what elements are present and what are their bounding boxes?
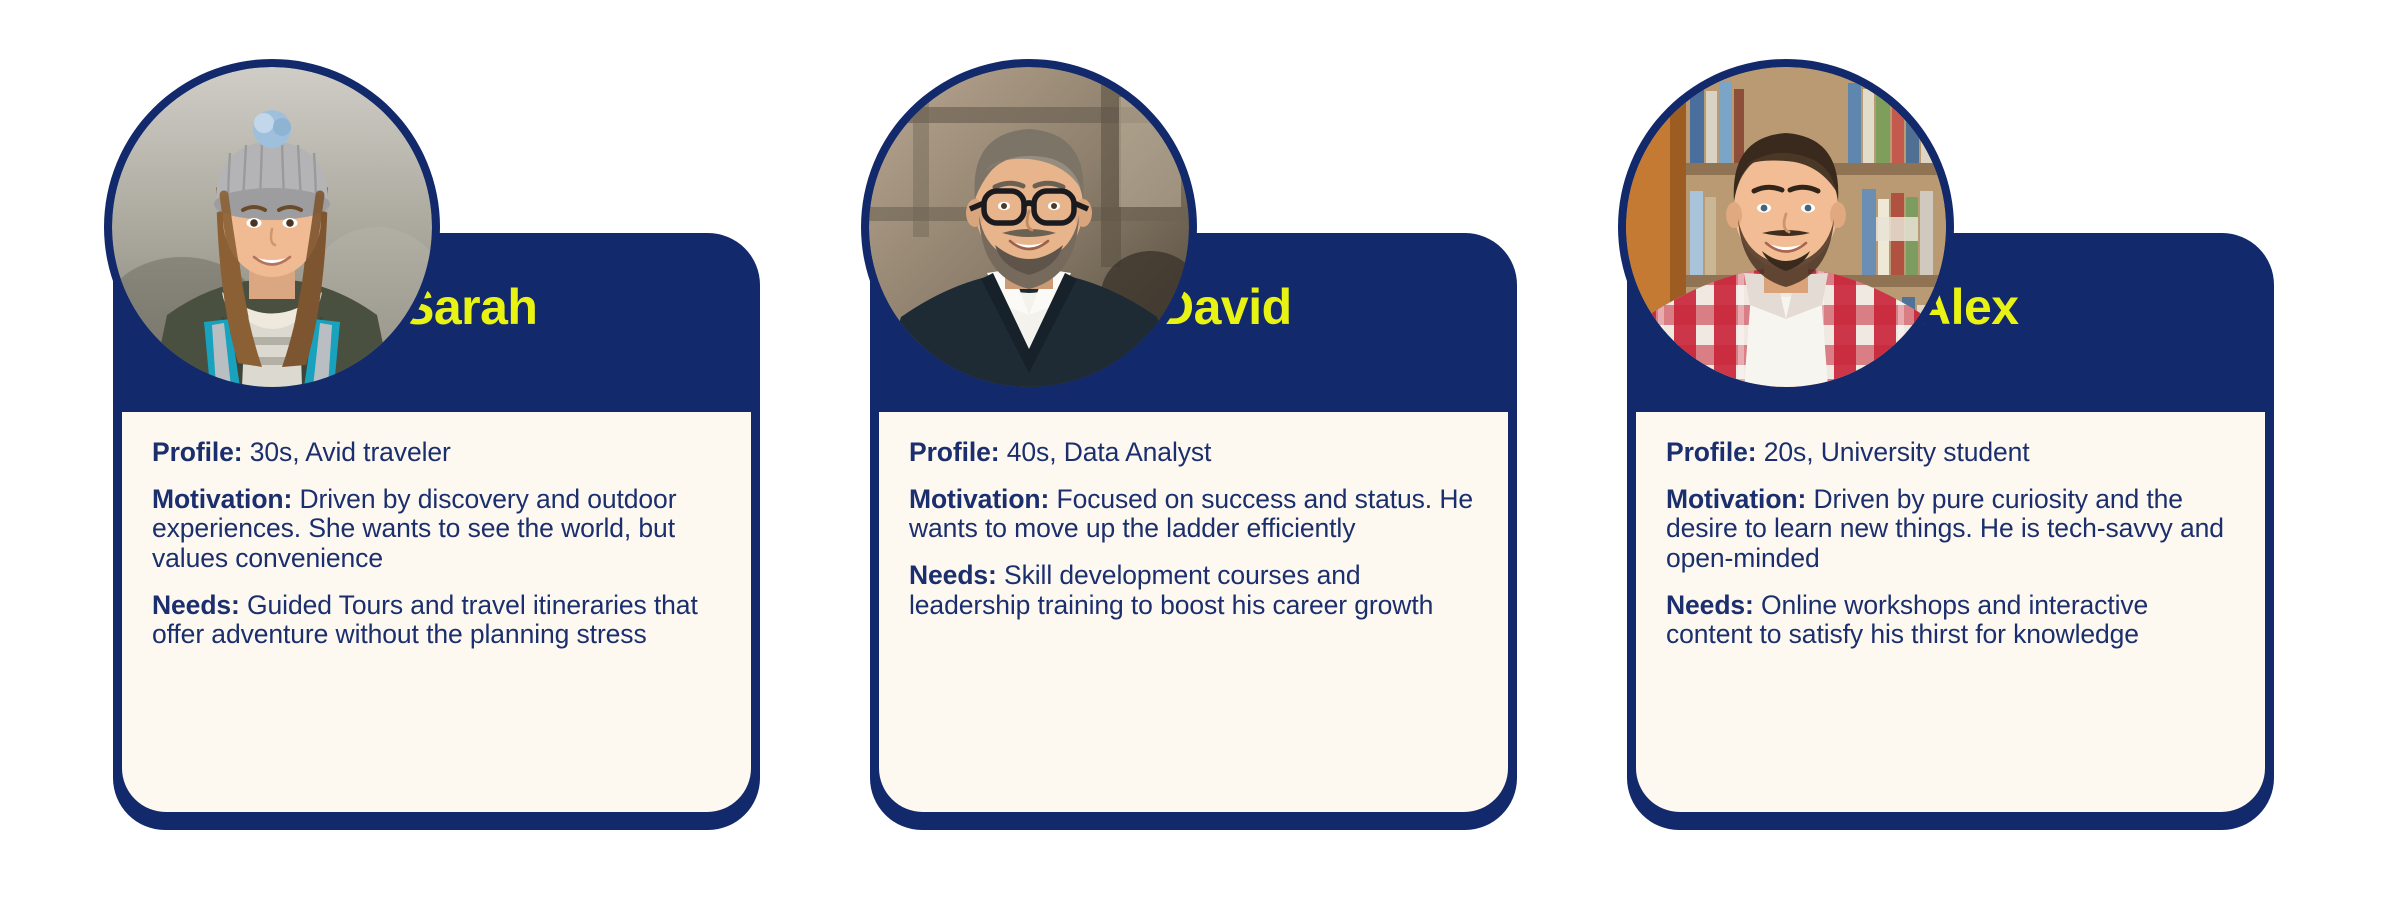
motivation-label: Motivation: [909,484,1049,514]
avatar [1626,67,1946,387]
motivation-label: Motivation: [152,484,292,514]
persona-details: Profile: 40s, Data Analyst Motivation: F… [879,412,1508,812]
persona-cards-board: Sarah [0,0,2390,915]
persona-name: Sarah [401,278,537,336]
profile-line: Profile: 20s, University student [1666,438,2235,468]
motivation-line: Motivation: Driven by discovery and outd… [152,485,721,574]
persona-card-alex[interactable]: Alex [1627,233,2274,830]
persona-details: Profile: 20s, University student Motivat… [1636,412,2265,812]
avatar [869,67,1189,387]
profile-label: Profile: [1666,437,1757,467]
profile-label: Profile: [909,437,1000,467]
needs-line: Needs: Skill development courses and lea… [909,561,1478,620]
motivation-line: Motivation: Driven by pure curiosity and… [1666,485,2235,574]
profile-line: Profile: 40s, Data Analyst [909,438,1478,468]
profile-value: 40s, Data Analyst [1000,437,1212,467]
avatar-photo-sarah [112,67,432,387]
needs-label: Needs: [1666,590,1754,620]
persona-details: Profile: 30s, Avid traveler Motivation: … [122,412,751,812]
avatar [112,67,432,387]
needs-line: Needs: Online workshops and interactive … [1666,591,2235,650]
profile-value: 30s, Avid traveler [243,437,451,467]
needs-label: Needs: [152,590,240,620]
profile-label: Profile: [152,437,243,467]
avatar-photo-alex [1626,67,1946,387]
motivation-line: Motivation: Focused on success and statu… [909,485,1478,544]
profile-line: Profile: 30s, Avid traveler [152,438,721,468]
profile-value: 20s, University student [1757,437,2030,467]
avatar-photo-david [869,67,1189,387]
motivation-label: Motivation: [1666,484,1806,514]
persona-card-sarah[interactable]: Sarah [113,233,760,830]
persona-name: David [1158,278,1292,336]
needs-line: Needs: Guided Tours and travel itinerari… [152,591,721,650]
needs-label: Needs: [909,560,997,590]
persona-card-david[interactable]: David [870,233,1517,830]
